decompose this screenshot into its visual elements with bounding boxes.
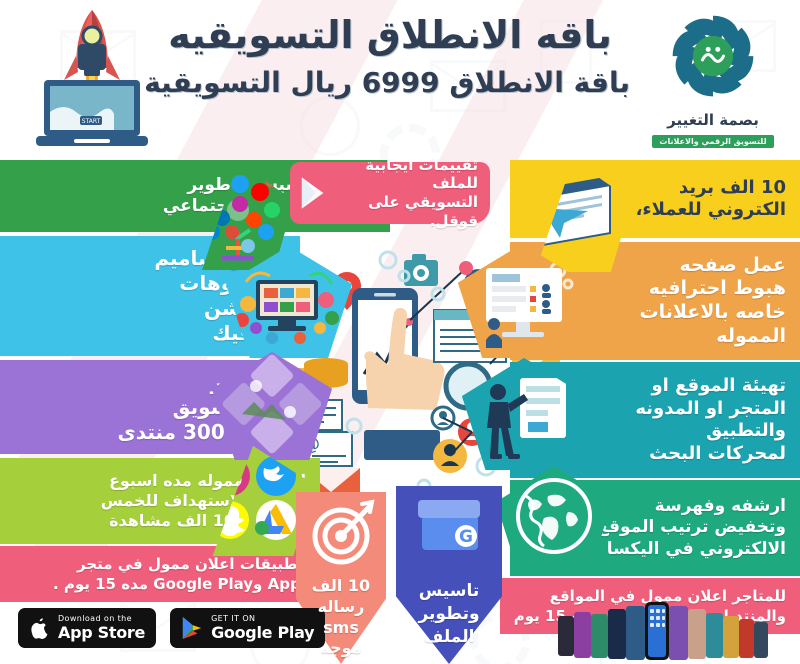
header-titles: باقه الانطلاق التسويقيه باقة الانطلاق 69… [150,14,630,99]
brand-name: بصمة التغيير [638,111,788,129]
app-store-big-text: App Store [58,625,145,641]
infographic-canvas: START باقه الانطلاق التسويقيه باقة الانط… [0,0,800,664]
google-play-icon [181,616,203,640]
page-title: باقه الانطلاق التسويقيه [150,14,630,58]
bottom-sms-label-wrap: 10 الف رساله sms موجه للعملاء [296,560,386,664]
top-center-google-reviews[interactable]: تقييمات ايجابية للملف التسويقي على قوقل. [290,162,490,224]
google-play-icon [294,173,333,213]
smartphones-lineup [540,600,790,662]
bottom-profile-label: تاسيس وتطوير الملف [418,580,479,649]
svg-text:START: START [82,118,101,125]
header: START باقه الانطلاق التسويقيه باقة الانط… [0,0,800,152]
brand-logo: بصمة التغيير للتسويق الرقمي والاعلانات [638,10,788,145]
apple-icon [29,616,50,640]
top-center-label: تقييمات ايجابية للملف التسويقي على قوقل. [333,156,490,231]
rocket-laptop-icon: START [30,8,154,148]
page-subtitle: باقة الانطلاق 6999 ريال التسويقية [150,66,630,100]
bottom-profile-label-wrap: تاسيس وتطوير الملف [396,558,502,664]
pinwheel-logo-icon [659,10,767,106]
right-item-label-0: 10 الف بريد الكتروني للعملاء، [510,177,800,222]
bottom-sms-label: 10 الف رساله sms موجه للعملاء [296,576,386,664]
app-store-badge[interactable]: Download on the App Store [18,608,156,648]
store-badges: GET IT ON Google Play Download on the Ap… [18,608,325,648]
left-item-label-4: للتطبيقات اعلان ممول في متجر Apple وGoog… [0,554,330,595]
brand-tagline: للتسويق الرقمي والاعلانات [652,135,773,148]
target-dart-icon [296,492,386,570]
svg-text:G: G [459,527,473,547]
app-store-small-text: Download on the [58,615,145,623]
